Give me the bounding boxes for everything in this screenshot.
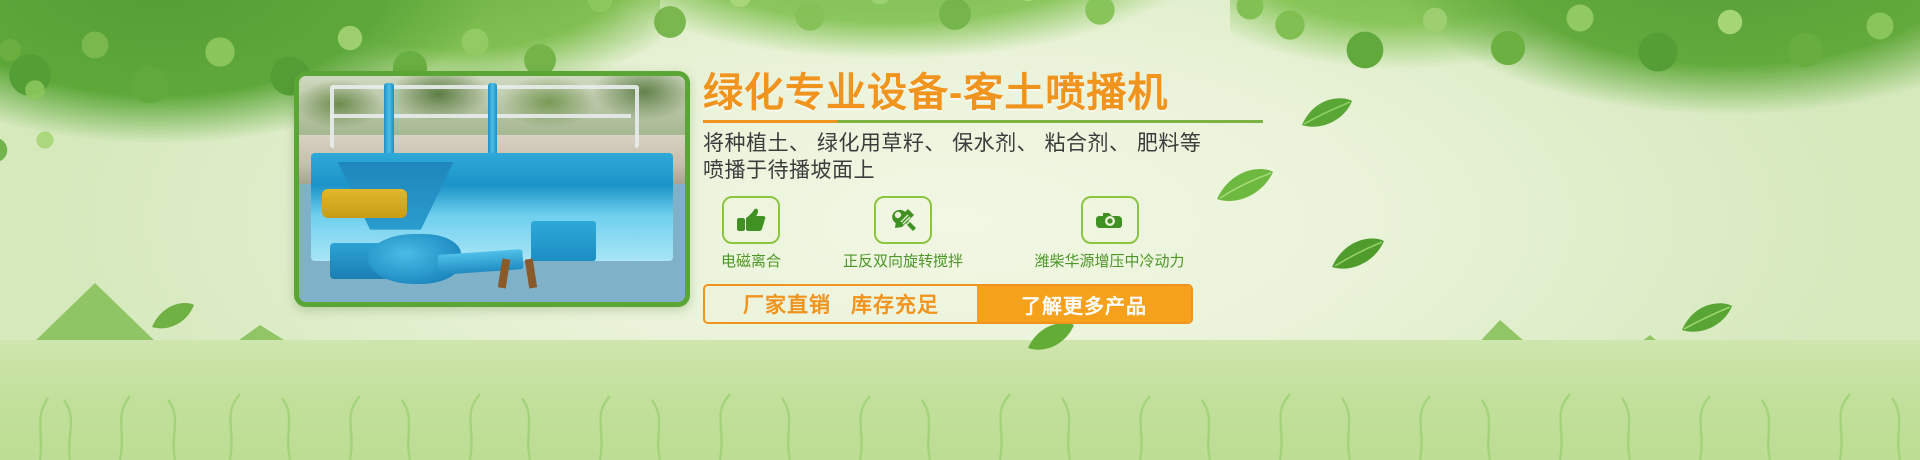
foliage-top-right-decoration <box>1230 0 1920 180</box>
cta-tags: 厂家直销 库存充足 <box>705 286 977 322</box>
product-photo <box>299 76 685 302</box>
banner-content: 绿化专业设备-客土喷播机 将种植土、 绿化用草籽、 保水剂、 粘合剂、 肥料等 … <box>703 70 1323 324</box>
title-underline-divider <box>703 120 1263 123</box>
grass-blades-svg <box>0 370 1920 460</box>
feature-item-electromagnetic-clutch: 电磁离合 <box>703 196 799 271</box>
feature-label: 正反双向旋转搅拌 <box>843 250 963 271</box>
feature-icon-box <box>722 196 780 244</box>
feature-list: 电磁离合 正反双向旋转搅拌 <box>703 196 1323 271</box>
wrench-screwdriver-icon <box>888 206 918 234</box>
page-title: 绿化专业设备-客土喷播机 <box>703 70 1323 116</box>
feature-item-bidirectional-mixing: 正反双向旋转搅拌 <box>813 196 993 271</box>
promo-banner: 绿化专业设备-客土喷播机 将种植土、 绿化用草籽、 保水剂、 粘合剂、 肥料等 … <box>0 0 1920 460</box>
subtitle-line-2: 喷播于待播坡面上 <box>703 157 1323 184</box>
engine-gear-icon <box>1094 207 1126 233</box>
feature-label: 潍柴华源增压中冷动力 <box>1034 250 1184 271</box>
cta-tag-factory-direct: 厂家直销 <box>743 289 831 319</box>
subtitle-line-1: 将种植土、 绿化用草籽、 保水剂、 粘合剂、 肥料等 <box>703 130 1323 157</box>
feature-icon-box <box>874 196 932 244</box>
feature-item-weichai-power: 潍柴华源增压中冷动力 <box>1007 196 1212 271</box>
cta-tag-in-stock: 库存充足 <box>851 289 939 319</box>
feature-label: 电磁离合 <box>721 250 781 271</box>
thumbs-up-icon <box>736 207 766 233</box>
product-photo-card <box>294 71 690 307</box>
learn-more-button[interactable]: 了解更多产品 <box>977 286 1191 322</box>
feature-icon-box <box>1081 196 1139 244</box>
cta-bar[interactable]: 厂家直销 库存充足 了解更多产品 <box>703 284 1193 324</box>
banner-subtitle: 将种植土、 绿化用草籽、 保水剂、 粘合剂、 肥料等 喷播于待播坡面上 <box>703 130 1323 184</box>
